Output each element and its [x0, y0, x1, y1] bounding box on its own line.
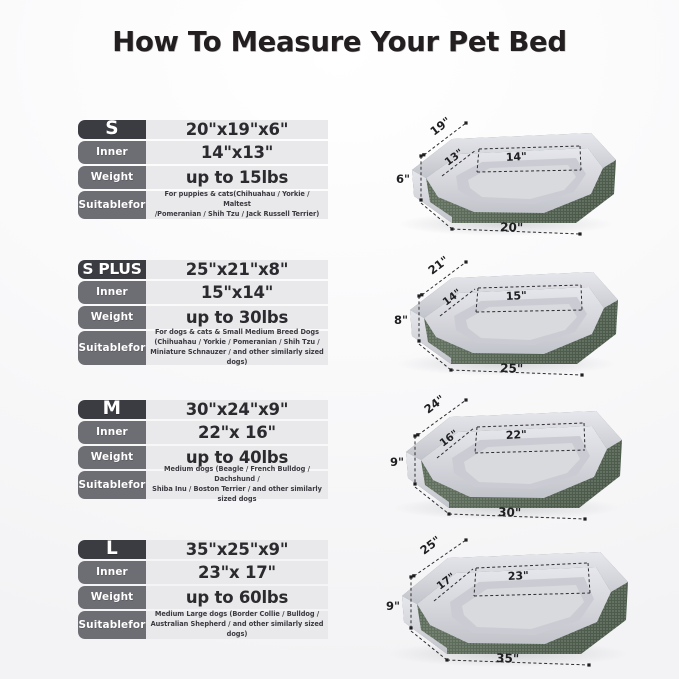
suitable-text-line1: For puppies & cats(Chihuahau / Yorkie / … [165, 190, 310, 208]
width-label: 25" [500, 361, 523, 376]
suitable-text-line2: Shiba Inu / Boston Terrier / and other s… [152, 485, 322, 503]
inner-value-cell: 15"x14" [146, 281, 328, 304]
bed-diagram-svg: 25" 9" 17" 23" 35" [348, 520, 668, 670]
dim-endpoint [587, 663, 590, 666]
dim-endpoint [464, 121, 467, 124]
size-dimensions-cell: 25"x21"x8" [146, 260, 328, 279]
suitable-for-value-cell: For dogs & cats & Small Medium Breed Dog… [146, 331, 328, 365]
suitable-for-label-line1: Suitable [78, 343, 128, 354]
dim-endpoint [409, 575, 412, 578]
size-name-cell: S [78, 120, 146, 139]
table-row-size: S 20"x19"x6" [78, 120, 328, 139]
table-row-inner: Inner 22"x 16" [78, 421, 328, 444]
dim-endpoint [422, 153, 425, 156]
size-dimensions-cell: 35"x25"x9" [146, 540, 328, 559]
suitable-text-line1: For dogs & cats & Small Medium Breed Dog… [155, 328, 319, 336]
dim-endpoint [419, 198, 422, 201]
bed-diagram-svg: 19" 6" 13" 14" 20" [348, 98, 668, 238]
dim-endpoint [419, 154, 422, 157]
suitable-text-line1: Medium Large dogs (Border Collie / Bulld… [155, 610, 319, 618]
table-row-inner: Inner 23"x 17" [78, 561, 328, 584]
width-label: 35" [496, 651, 519, 666]
depth-label: 21" [425, 253, 451, 277]
depth-label: 19" [427, 114, 453, 138]
table-row-size: M 30"x24"x9" [78, 400, 328, 419]
weight-label-cell: Weight [78, 306, 146, 329]
table-row-weight: Weight up to 30lbs [78, 306, 328, 329]
dim-endpoint [417, 294, 420, 297]
suitable-for-label-line1: Suitable [78, 200, 128, 211]
weight-value-cell: up to 15lbs [146, 166, 328, 189]
dim-endpoint [413, 434, 416, 437]
inner-value-cell: 22"x 16" [146, 421, 328, 444]
inner-width-label: 14" [505, 150, 527, 164]
inner-width-label: 22" [505, 428, 527, 442]
size-name-cell: M [78, 400, 146, 419]
weight-label-cell: Weight [78, 586, 146, 609]
inner-label-cell: Inner [78, 141, 146, 164]
suitable-text-line2: Australian Shepherd / and other similarl… [151, 620, 324, 638]
width-label: 20" [500, 220, 523, 235]
bed-diagram-svg: 21" 8" 14" 15" 25" [348, 238, 668, 378]
suitable-for-label-line1: Suitable [78, 620, 128, 631]
page-title: How To Measure Your Pet Bed [0, 26, 679, 58]
height-label: 9" [386, 599, 400, 613]
suitable-for-label-line2: for [128, 480, 145, 491]
suitable-for-label-cell: Suitable for [78, 611, 146, 639]
table-row-suitable-for: Suitable for For puppies & cats(Chihuaha… [78, 191, 328, 219]
size-table-s: S 20"x19"x6" Inner 14"x13" Weight up to … [78, 120, 328, 221]
depth-label: 24" [421, 392, 447, 416]
suitable-text-line2: (Chihuahau / Yorkie / Pomeranian / Shih … [154, 338, 319, 346]
suitable-for-value-cell: Medium Large dogs (Border Collie / Bulld… [146, 611, 328, 639]
dim-endpoint [412, 574, 415, 577]
pet-bed-size-chart-page: How To Measure Your Pet Bed S 20"x19"x6"… [0, 0, 679, 679]
inner-label-cell: Inner [78, 421, 146, 444]
suitable-for-label-cell: Suitable for [78, 191, 146, 219]
dim-endpoint [409, 626, 412, 629]
table-row-size: S PLUS 25"x21"x8" [78, 260, 328, 279]
suitable-for-value-cell: Medium dogs (Beagle / French Bulldog / D… [146, 471, 328, 499]
dim-endpoint [417, 339, 420, 342]
suitable-for-label-line2: for [128, 343, 145, 354]
suitable-for-label-line2: for [128, 200, 145, 211]
suitable-for-label-line2: for [128, 620, 145, 631]
dim-endpoint [450, 227, 453, 230]
table-row-size: L 35"x25"x9" [78, 540, 328, 559]
suitable-for-label-line1: Suitable [78, 480, 128, 491]
height-label: 6" [396, 172, 410, 186]
dim-endpoint [580, 373, 583, 376]
dim-endpoint [464, 260, 467, 263]
dim-endpoint [464, 538, 467, 541]
size-table-s-plus: S PLUS 25"x21"x8" Inner 15"x14" Weight u… [78, 260, 328, 367]
table-row-suitable-for: Suitable for For dogs & cats & Small Med… [78, 331, 328, 365]
inner-value-cell: 14"x13" [146, 141, 328, 164]
size-table-l: L 35"x25"x9" Inner 23"x 17" Weight up to… [78, 540, 328, 641]
bed-diagram-svg: 24" 9" 16" 22" 30" [348, 378, 668, 523]
size-dimensions-cell: 20"x19"x6" [146, 120, 328, 139]
dim-endpoint [416, 433, 419, 436]
dim-endpoint [447, 512, 450, 515]
bed-illustration-m: 24" 9" 16" 22" 30" [348, 378, 668, 523]
table-row-weight: Weight up to 15lbs [78, 166, 328, 189]
weight-value-cell: up to 30lbs [146, 306, 328, 329]
dim-endpoint [413, 482, 416, 485]
table-row-suitable-for: Suitable for Medium Large dogs (Border C… [78, 611, 328, 639]
height-label: 9" [390, 455, 404, 469]
size-table-m: M 30"x24"x9" Inner 22"x 16" Weight up to… [78, 400, 328, 501]
dim-endpoint [578, 232, 581, 235]
suitable-for-value-cell: For puppies & cats(Chihuahau / Yorkie / … [146, 191, 328, 219]
dim-endpoint [449, 368, 452, 371]
dim-endpoint [445, 658, 448, 661]
suitable-text-line3: Miniature Schnauzer / and other similarl… [150, 348, 323, 366]
depth-label: 25" [417, 533, 443, 557]
table-row-weight: Weight up to 60lbs [78, 586, 328, 609]
bed-illustration-s-plus: 21" 8" 14" 15" 25" [348, 238, 668, 378]
size-name-cell: S PLUS [78, 260, 146, 279]
suitable-for-label-cell: Suitable for [78, 471, 146, 499]
inner-label-cell: Inner [78, 561, 146, 584]
suitable-for-label-cell: Suitable for [78, 331, 146, 365]
suitable-text-line1: Medium dogs (Beagle / French Bulldog / D… [164, 465, 310, 483]
dim-endpoint [464, 398, 467, 401]
size-dimensions-cell: 30"x24"x9" [146, 400, 328, 419]
weight-label-cell: Weight [78, 446, 146, 469]
inner-width-label: 15" [505, 289, 527, 303]
table-row-inner: Inner 15"x14" [78, 281, 328, 304]
table-row-inner: Inner 14"x13" [78, 141, 328, 164]
inner-value-cell: 23"x 17" [146, 561, 328, 584]
suitable-text-line2: /Pomeranian / Shih Tzu / Jack Russell Te… [155, 210, 319, 218]
weight-label-cell: Weight [78, 166, 146, 189]
bed-illustration-l: 25" 9" 17" 23" 35" [348, 520, 668, 670]
inner-width-label: 23" [507, 569, 529, 583]
inner-label-cell: Inner [78, 281, 146, 304]
weight-value-cell: up to 60lbs [146, 586, 328, 609]
width-label: 30" [498, 505, 521, 520]
height-label: 8" [394, 313, 408, 327]
bed-illustration-s: 19" 6" 13" 14" 20" [348, 98, 668, 238]
table-row-suitable-for: Suitable for Medium dogs (Beagle / Frenc… [78, 471, 328, 499]
size-name-cell: L [78, 540, 146, 559]
dim-endpoint [420, 293, 423, 296]
